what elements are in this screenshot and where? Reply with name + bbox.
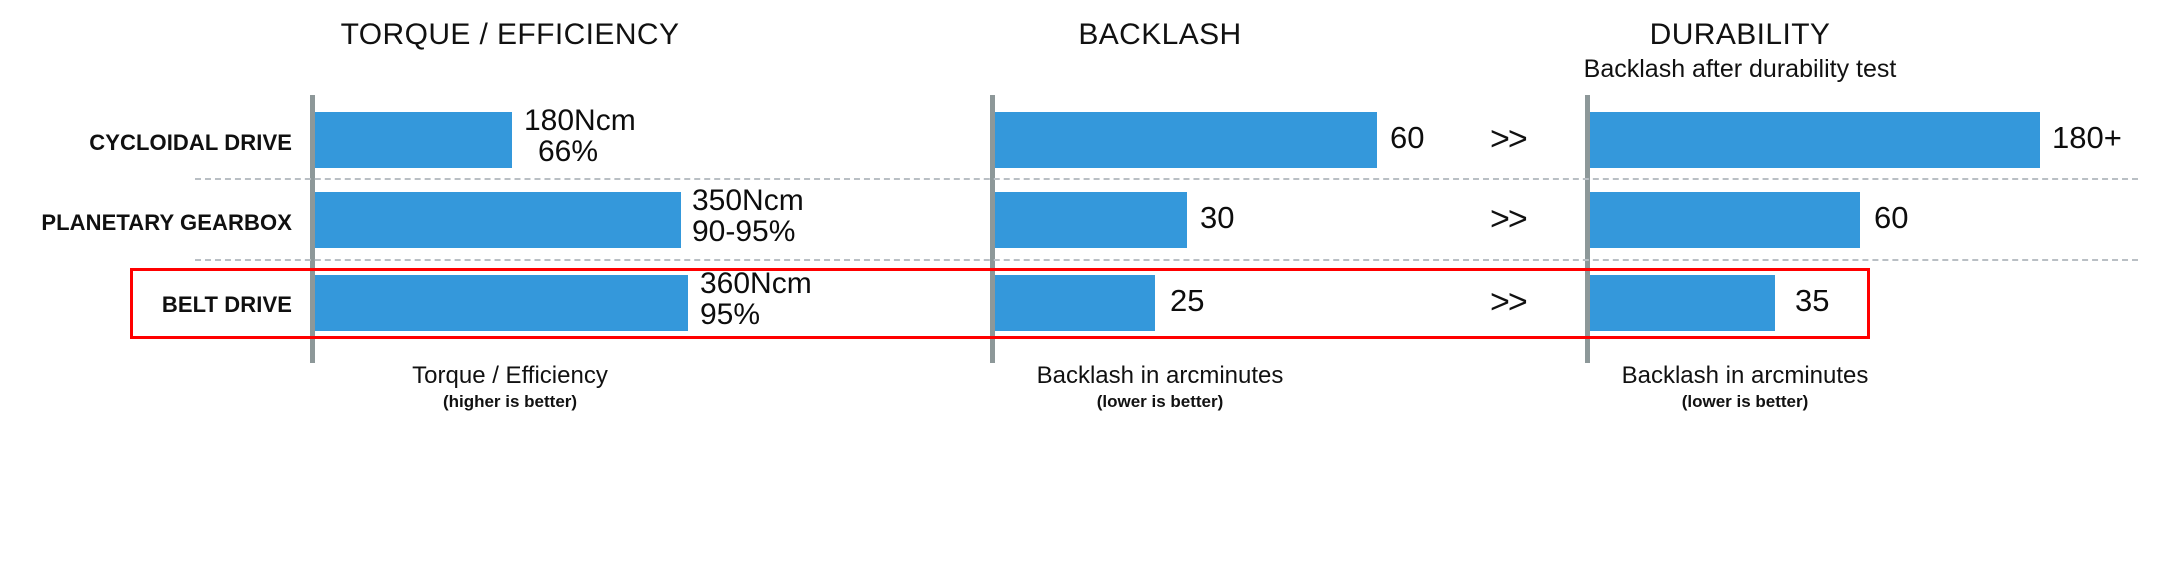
bar-value-backlash-cycloidal: 60 xyxy=(1390,122,1424,154)
axis-caption-durability: Backlash in arcminutes xyxy=(1530,362,1960,390)
panel-title-torque: TORQUE / EFFICIENCY xyxy=(300,18,720,52)
axis-caption-backlash: Backlash in arcminutes xyxy=(945,362,1375,390)
comparison-chart: TORQUE / EFFICIENCY BACKLASH DURABILITY … xyxy=(0,0,2160,586)
bar-backlash-cycloidal xyxy=(995,112,1377,168)
connector-arrow-row2: >> xyxy=(1490,200,1526,239)
connector-arrow-row3: >> xyxy=(1490,283,1526,322)
bar-value-secondary: 66% xyxy=(524,137,636,168)
bar-value-backlash-belt: 25 xyxy=(1170,285,1204,317)
axis-note-durability: (lower is better) xyxy=(1530,392,1960,412)
bar-durability-cycloidal xyxy=(1590,112,2040,168)
bar-value-primary: 180Ncm xyxy=(524,106,636,137)
bar-value-torque-planetary: 350Ncm 90-95% xyxy=(692,186,804,247)
bar-value-primary: 360Ncm xyxy=(700,269,812,300)
bar-torque-cycloidal xyxy=(315,112,512,168)
bar-backlash-belt xyxy=(995,275,1155,331)
panel-title-backlash: BACKLASH xyxy=(950,18,1370,52)
panel-title-durability: DURABILITY xyxy=(1530,18,1950,52)
axis-note-torque: (higher is better) xyxy=(300,392,720,412)
bar-value-secondary: 95% xyxy=(700,300,812,331)
bar-value-backlash-planetary: 30 xyxy=(1200,202,1234,234)
row-label-cycloidal-drive: CYCLOIDAL DRIVE xyxy=(0,130,292,156)
bar-backlash-planetary xyxy=(995,192,1187,248)
bar-value-torque-belt: 360Ncm 95% xyxy=(700,269,812,330)
bar-value-primary: 350Ncm xyxy=(692,186,804,217)
bar-torque-planetary xyxy=(315,192,681,248)
row-separator-2 xyxy=(195,259,2138,261)
panel-subtitle-durability: Backlash after durability test xyxy=(1490,55,1990,84)
row-label-belt-drive: BELT DRIVE xyxy=(0,292,292,318)
bar-value-durability-cycloidal: 180+ xyxy=(2052,122,2122,154)
axis-note-backlash: (lower is better) xyxy=(945,392,1375,412)
connector-arrow-row1: >> xyxy=(1490,120,1526,159)
bar-torque-belt xyxy=(315,275,688,331)
row-label-planetary-gearbox: PLANETARY GEARBOX xyxy=(0,210,292,236)
row-separator-1 xyxy=(195,178,2138,180)
bar-value-torque-cycloidal: 180Ncm 66% xyxy=(524,106,636,167)
axis-caption-torque: Torque / Efficiency xyxy=(300,362,720,390)
bar-value-durability-belt: 35 xyxy=(1795,285,1829,317)
bar-value-secondary: 90-95% xyxy=(692,217,804,248)
bar-value-durability-planetary: 60 xyxy=(1874,202,1908,234)
bar-durability-planetary xyxy=(1590,192,1860,248)
bar-durability-belt xyxy=(1590,275,1775,331)
